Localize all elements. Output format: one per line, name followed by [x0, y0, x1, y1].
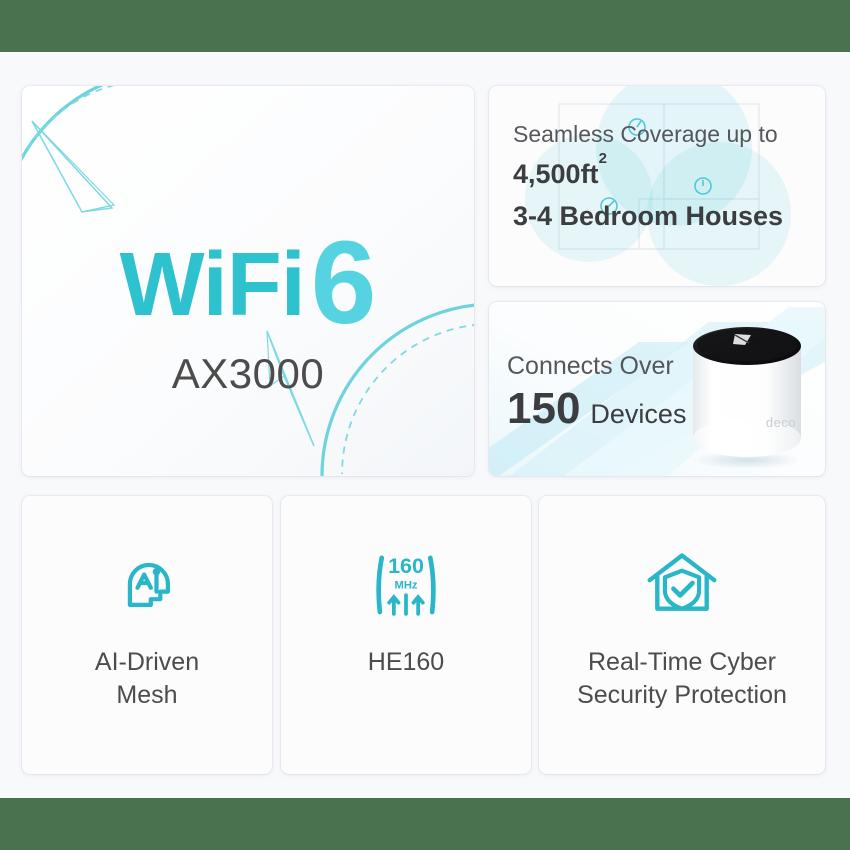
he160-bandwidth-icon: 160 MHz	[364, 544, 448, 624]
coverage-house-size: 3-4 Bedroom Houses	[513, 202, 813, 232]
ai-head-icon	[109, 544, 185, 624]
he160-icon-unit: MHz	[395, 580, 418, 592]
coverage-area-value: 4,500ft2	[513, 160, 813, 190]
devices-count: 150	[507, 387, 580, 431]
feature-label-he160: HE160	[358, 646, 454, 679]
coverage-headline: Seamless Coverage up to	[513, 120, 813, 149]
feature-label-line1: AI-Driven	[95, 646, 199, 679]
feature-card-cyber-security: Real-Time Cyber Security Protection	[539, 496, 825, 774]
devices-text-block: Connects Over 150 Devices	[507, 354, 686, 431]
top-green-band	[0, 0, 850, 52]
content-stage: WiFi 6 AX3000	[0, 52, 850, 798]
feature-label-line1: HE160	[368, 646, 444, 679]
wifi-label: WiFi	[120, 240, 305, 330]
he160-icon-value: 160	[388, 554, 424, 578]
deco-router-image: deco	[677, 314, 817, 472]
feature-label-ai-driven-mesh: AI-Driven Mesh	[85, 646, 209, 712]
deco-logo-text: deco	[766, 415, 796, 430]
feature-label-line1: Real-Time Cyber	[577, 646, 787, 679]
feature-label-cyber-security: Real-Time Cyber Security Protection	[567, 646, 797, 712]
devices-card: Connects Over 150 Devices	[489, 302, 825, 476]
devices-noun: Devices	[590, 401, 686, 428]
wifi-version-number: 6	[311, 224, 377, 342]
home-shield-check-icon	[642, 544, 722, 624]
hero-text-block: WiFi 6 AX3000	[22, 216, 474, 398]
coverage-text-block: Seamless Coverage up to 4,500ft2 3-4 Bed…	[513, 120, 813, 232]
bottom-green-band	[0, 798, 850, 850]
wifi6-hero-card: WiFi 6 AX3000	[22, 86, 474, 476]
coverage-area-number: 4,500ft	[513, 159, 599, 189]
feature-label-line2: Security Protection	[577, 679, 787, 712]
feature-label-line2: Mesh	[95, 679, 199, 712]
coverage-card: Seamless Coverage up to 4,500ft2 3-4 Bed…	[489, 86, 825, 286]
feature-card-ai-driven-mesh: AI-Driven Mesh	[22, 496, 272, 774]
feature-card-he160: 160 MHz HE160	[281, 496, 531, 774]
model-spec-label: AX3000	[22, 350, 474, 398]
coverage-area-superscript: 2	[599, 150, 607, 167]
devices-headline: Connects Over	[507, 354, 686, 379]
